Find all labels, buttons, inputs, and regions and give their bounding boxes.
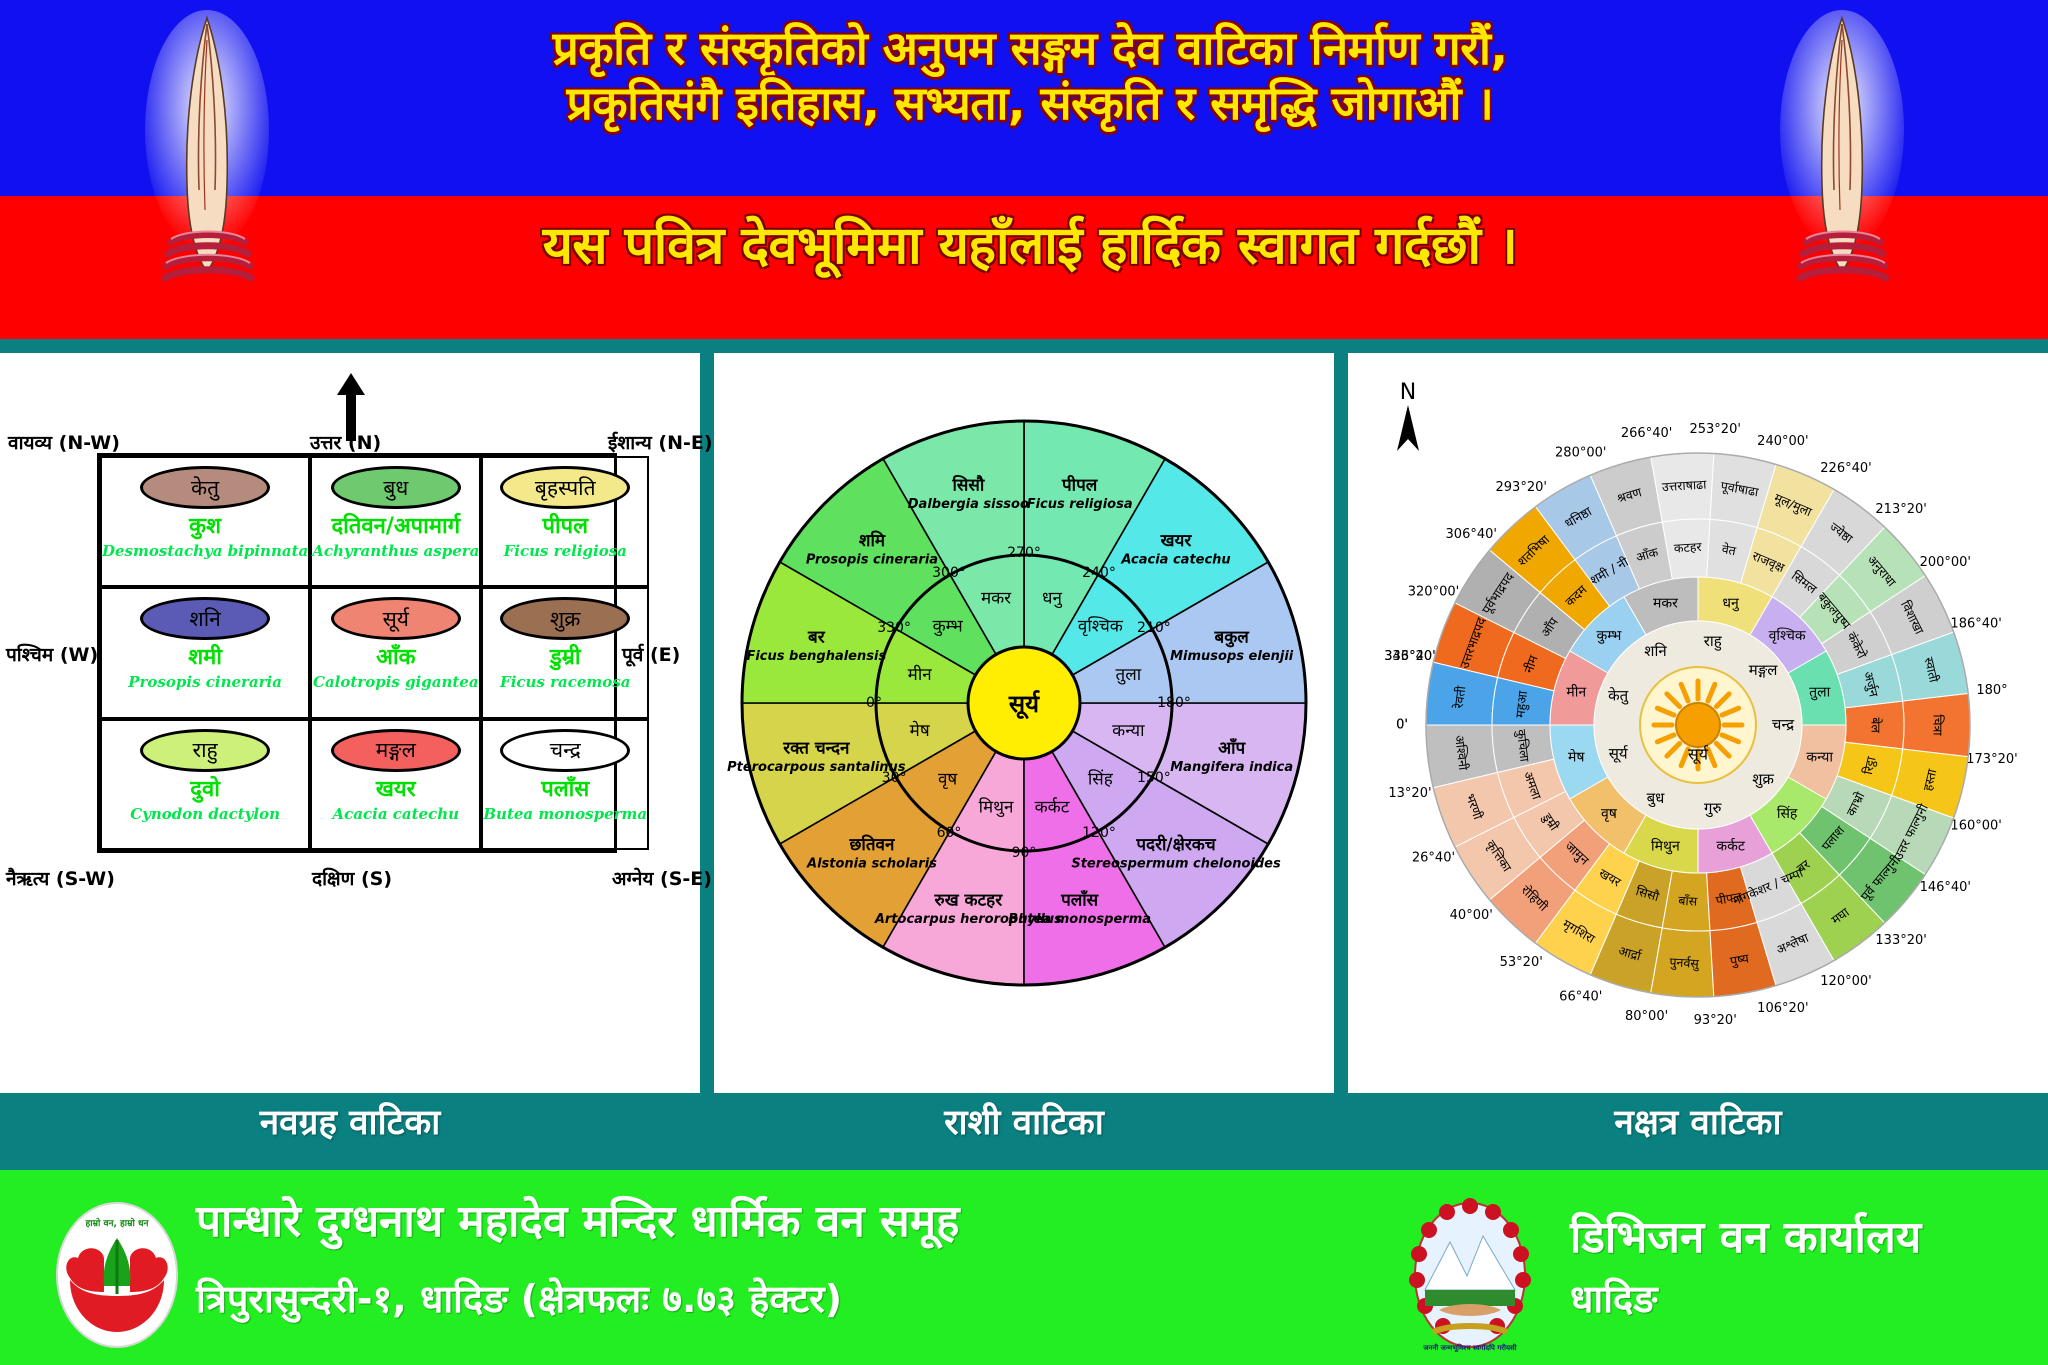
- nakshatra-degree-label-extra: 346°40': [1384, 649, 1435, 664]
- nakshatra-rashi-label: कर्कट: [1716, 838, 1746, 855]
- rashi-sign-label: मीन: [908, 664, 933, 685]
- nakshatra-graha-label: मङ्गल: [1749, 661, 1778, 679]
- direction-label-n: उत्तर (N): [310, 429, 381, 455]
- svg-text:कटहर: कटहर: [1673, 539, 1702, 556]
- rashi-sign-label: कन्या: [1112, 721, 1145, 741]
- svg-text:मेष: मेष: [910, 720, 931, 741]
- nakshatra-rashi-label: कुम्भ: [1597, 628, 1623, 644]
- rashi-degree-tick: 120°: [1082, 825, 1116, 841]
- navagraha-cell[interactable]: केतु कुश Desmostachya bipinnata: [100, 456, 310, 587]
- rashi-sign-label: धनु: [1042, 589, 1063, 609]
- nakshatra-graha-label: सूर्य: [1609, 745, 1629, 764]
- header-teal-divider: [0, 339, 2048, 353]
- nakshatra-center-label: सूर्य: [1688, 745, 1709, 765]
- svg-text:पुनर्वसु: पुनर्वसु: [1669, 954, 1700, 972]
- navagraha-cell[interactable]: सूर्य आँक Calotropis gigantea: [310, 587, 481, 718]
- direction-label-ne: ईशान्य (N-E): [608, 429, 713, 455]
- nakshatra-degree-label: 66°40': [1559, 989, 1602, 1004]
- rashi-degree-tick: 90°: [1012, 845, 1037, 861]
- scientific-name: Ficus racemosa: [500, 673, 630, 691]
- community-forest-logo-icon: हाम्रो वन, हाम्रो धन: [42, 1200, 192, 1350]
- navagraha-cell[interactable]: शुक्र डुम्री Ficus racemosa: [481, 587, 649, 718]
- nakshatra-rashi-label: वृश्चिक: [1769, 627, 1806, 644]
- scientific-name: Ficus religiosa: [504, 542, 627, 560]
- header-slogan-line2: प्रकृतिसंगै इतिहास, सभ्यता, संस्कृति र स…: [250, 75, 1810, 131]
- nakshatra-degree-label: 226°40': [1820, 461, 1871, 476]
- nakshatra-degree-label: 26°40': [1412, 850, 1455, 865]
- svg-text:हाम्रो वन, हाम्रो धन: हाम्रो वन, हाम्रो धन: [85, 1217, 150, 1229]
- svg-text:N: N: [1400, 380, 1416, 405]
- footer-org-name: पान्धारे दुग्धनाथ महादेव मन्दिर धार्मिक …: [196, 1196, 1256, 1248]
- scientific-name: Prosopis cineraria: [128, 673, 282, 691]
- svg-text:Acacia catechu: Acacia catechu: [1120, 552, 1230, 567]
- svg-text:Mangifera indica: Mangifera indica: [1170, 760, 1293, 775]
- caption-nakshatra: नक्षत्र वाटिका: [1348, 1098, 2048, 1145]
- nakshatra-name-label: उत्तराषाढा: [1661, 477, 1707, 495]
- planet-badge: बृहस्पति: [500, 466, 630, 509]
- svg-text:Dalbergia sissoo: Dalbergia sissoo: [908, 497, 1029, 512]
- planet-badge: शुक्र: [500, 597, 630, 640]
- svg-text:रक्त चन्दन: रक्त चन्दन: [782, 739, 850, 759]
- svg-text:मीन: मीन: [908, 664, 933, 685]
- rashi-wheel-chart[interactable]: रक्त चन्दनPterocarpous santalinusमेषछतिव…: [714, 353, 1334, 1093]
- svg-text:कुम्भ: कुम्भ: [933, 617, 964, 637]
- nakshatra-rashi-label: मिथुन: [1651, 838, 1680, 855]
- svg-text:आँप: आँप: [1218, 738, 1246, 759]
- rashi-degree-tick: 180°: [1157, 695, 1191, 711]
- north-arrow-icon: N: [1397, 380, 1419, 451]
- plant-name: शमी: [188, 647, 222, 669]
- svg-text:सिसौ: सिसौ: [951, 474, 984, 495]
- scientific-name: Desmostachya bipinnata: [102, 542, 308, 560]
- direction-label-s: दक्षिण (S): [312, 865, 392, 891]
- nakshatra-degree-label: 266°40': [1621, 426, 1672, 441]
- svg-text:चित्रा: चित्रा: [1931, 714, 1946, 736]
- svg-text:Butea monosperma: Butea monosperma: [1008, 912, 1151, 927]
- rashi-sign-label: वृष: [938, 769, 958, 789]
- nakshatra-graha-label: चन्द्र: [1772, 716, 1795, 734]
- rashi-sign-label: मिथुन: [979, 796, 1014, 817]
- svg-text:बेल: बेल: [1869, 717, 1884, 733]
- nakshatra-rashi-label: कन्या: [1806, 750, 1833, 766]
- svg-text:जननी जन्मभूमिश्च स्वर्गादपि गर: जननी जन्मभूमिश्च स्वर्गादपि गरीयसी: [1422, 1343, 1517, 1353]
- rashi-sign-label: मेष: [910, 720, 931, 741]
- scientific-name: Cynodon dactylon: [130, 805, 280, 823]
- scientific-name: Butea monosperma: [483, 805, 647, 823]
- header-slogan-line1: प्रकृति र संस्कृतिको अनुपम सङ्गम देव वाट…: [250, 20, 1810, 76]
- navagraha-grid: केतु कुश Desmostachya bipinnata बुध दतिव…: [97, 453, 617, 853]
- navagraha-cell[interactable]: चन्द्र पलाँस Butea monosperma: [481, 719, 649, 850]
- rashi-sign-label: वृश्चिक: [1078, 616, 1124, 637]
- svg-text:बकुल: बकुल: [1214, 627, 1251, 647]
- nakshatra-tree-label: बेल: [1869, 717, 1884, 733]
- planet-badge: केतु: [140, 466, 270, 509]
- navagraha-cell[interactable]: शनि शमी Prosopis cineraria: [100, 587, 310, 718]
- panels-container: वायव्य (N-W) उत्तर (N) ईशान्य (N-E) पश्च…: [0, 353, 2048, 1093]
- nakshatra-degree-label: 173°20': [1966, 752, 2017, 767]
- nakshatra-degree-label: 180°: [1976, 683, 2007, 698]
- rashi-sign-label: कुम्भ: [933, 617, 964, 637]
- rashi-degree-tick: 60°: [937, 825, 962, 841]
- poster-root: प्रकृति र संस्कृतिको अनुपम सङ्गम देव वाट…: [0, 0, 2048, 1365]
- svg-text:Pterocarpous santalinus: Pterocarpous santalinus: [727, 760, 906, 775]
- nakshatra-degree-label: 80°00': [1625, 1009, 1668, 1024]
- svg-text:बर: बर: [807, 627, 826, 647]
- rashi-sign-label: मकर: [981, 589, 1012, 609]
- svg-text:सिंह: सिंह: [1088, 768, 1114, 789]
- plant-name: दुवो: [190, 779, 220, 801]
- nakshatra-degree-label: 93°20': [1694, 1013, 1737, 1028]
- nakshatra-degree-label: 253°20': [1689, 422, 1740, 437]
- nakshatra-graha-label: राहु: [1704, 632, 1723, 651]
- scientific-name: Acacia catechu: [333, 805, 460, 823]
- nakshatra-tree-label: बाँस: [1678, 893, 1698, 909]
- rashi-sign-label: सिंह: [1088, 768, 1114, 789]
- svg-text:वृष: वृष: [938, 769, 958, 789]
- svg-text:रुख कटहर: रुख कटहर: [934, 891, 1004, 911]
- svg-text:पलाँस: पलाँस: [1060, 890, 1100, 911]
- nakshatra-degree-label: 200°00': [1920, 555, 1971, 570]
- navagraha-cell[interactable]: मङ्गल खयर Acacia catechu: [310, 719, 481, 850]
- panel-rashi: रक्त चन्दनPterocarpous santalinusमेषछतिव…: [714, 353, 1334, 1093]
- rashi-degree-tick: 240°: [1082, 565, 1116, 581]
- svg-text:Stereospermum chelonoides: Stereospermum chelonoides: [1071, 857, 1281, 872]
- direction-label-w: पश्चिम (W): [6, 641, 98, 667]
- nakshatra-rashi-label: मेष: [1568, 749, 1585, 766]
- svg-text:पीपल: पीपल: [1061, 474, 1099, 495]
- plant-name: डुम्री: [550, 647, 581, 669]
- nakshatra-degree-label: 293°20': [1496, 480, 1547, 495]
- direction-label-se: अग्नेय (S-E): [612, 865, 712, 891]
- rashi-center-label: सूर्य: [1008, 690, 1040, 720]
- svg-text:तुला: तुला: [1116, 665, 1142, 685]
- nakshatra-graha-label: बुध: [1647, 789, 1666, 808]
- footer-division-addr: धादिङ: [1570, 1272, 2000, 1324]
- plant-name: पलाँस: [541, 779, 589, 801]
- nakshatra-graha-label: शनि: [1644, 642, 1667, 660]
- rashi-sign-label: कर्कट: [1035, 796, 1070, 817]
- nakshatra-degree-label: 120°00': [1820, 974, 1871, 989]
- svg-text:Ficus religiosa: Ficus religiosa: [1027, 497, 1133, 512]
- panel-nakshatra: मेषवृषमिथुनकर्कटसिंहकन्यातुलावृश्चिकधनुम…: [1348, 353, 2048, 1093]
- svg-text:Prosopis cineraria: Prosopis cineraria: [806, 552, 938, 567]
- footer-division-name: डिभिजन वन कार्यालय: [1570, 1205, 2000, 1265]
- navagraha-cell[interactable]: बृहस्पति पीपल Ficus religiosa: [481, 456, 649, 587]
- nakshatra-rashi-label: वृष: [1601, 806, 1618, 822]
- svg-text:कर्कट: कर्कट: [1035, 796, 1070, 817]
- planet-badge: सूर्य: [331, 597, 461, 640]
- nakshatra-graha-label: केतु: [1608, 686, 1629, 705]
- planet-badge: चन्द्र: [500, 729, 630, 772]
- rashi-degree-tick: 0°: [866, 695, 882, 711]
- nepal-government-emblem-icon: जननी जन्मभूमिश्च स्वर्गादपि गरीयसी: [1395, 1190, 1545, 1360]
- rashi-degree-tick: 300°: [932, 565, 966, 581]
- nakshatra-name-label: पुनर्वसु: [1669, 954, 1700, 972]
- nakshatra-degree-label: 240°00': [1757, 434, 1808, 449]
- svg-text:धनु: धनु: [1042, 589, 1063, 609]
- svg-text:Mimusops elenjii: Mimusops elenjii: [1170, 649, 1294, 664]
- nakshatra-degree-label: 160°00': [1950, 819, 2001, 834]
- nakshatra-degree-label: 320°00': [1408, 585, 1459, 600]
- planet-badge: मङ्गल: [331, 729, 461, 772]
- nakshatra-degree-label-extra: 0': [1396, 717, 1408, 732]
- nakshatra-graha-label: शुक्र: [1752, 770, 1774, 789]
- planet-badge: बुध: [331, 466, 461, 509]
- svg-text:पदरी/क्षेरकच: पदरी/क्षेरकच: [1135, 834, 1216, 855]
- nakshatra-degree-label: 106°20': [1757, 1001, 1808, 1016]
- planet-badge: शनि: [140, 597, 270, 640]
- nakshatra-rashi-label: सिंह: [1777, 805, 1798, 822]
- svg-text:छतिवन: छतिवन: [849, 834, 895, 855]
- svg-text:खयर: खयर: [1160, 531, 1193, 551]
- rashi-degree-tick: 270°: [1007, 545, 1041, 561]
- navagraha-cell[interactable]: राहु दुवो Cynodon dactylon: [100, 719, 310, 850]
- footer-org-address: त्रिपुरासुन्दरी-१, धादिङ (क्षेत्रफलः ७.७…: [196, 1272, 1256, 1324]
- svg-text:मकर: मकर: [981, 589, 1012, 609]
- header-welcome-line: यस पवित्र देवभूमिमा यहाँलाई हार्दिक स्वा…: [250, 215, 1810, 277]
- svg-text:मिथुन: मिथुन: [979, 796, 1014, 817]
- rashi-sign-label: तुला: [1116, 665, 1142, 685]
- nakshatra-degree-label: 40°00': [1450, 908, 1493, 923]
- svg-text:कन्या: कन्या: [1112, 721, 1145, 741]
- planet-badge: राहु: [140, 729, 270, 772]
- svg-text:शमि: शमि: [859, 530, 886, 551]
- direction-label-sw: नैऋत्य (S-W): [6, 865, 115, 891]
- nakshatra-degree-label: 146°40': [1920, 880, 1971, 895]
- nakshatra-wheel-chart[interactable]: मेषवृषमिथुनकर्कटसिंहकन्यातुलावृश्चिकधनुम…: [1348, 353, 2048, 1093]
- plant-name: कुश: [189, 516, 221, 538]
- nakshatra-rashi-label: मकर: [1653, 595, 1678, 611]
- plant-name: खयर: [376, 779, 416, 801]
- nakshatra-graha-label: गुरु: [1704, 799, 1722, 818]
- scientific-name: Achyranthus aspera: [312, 542, 479, 560]
- svg-text:बाँस: बाँस: [1678, 893, 1698, 909]
- svg-text:Alstonia scholaris: Alstonia scholaris: [806, 857, 937, 872]
- navagraha-cell[interactable]: बुध दतिवन/अपामार्ग Achyranthus aspera: [310, 456, 481, 587]
- nakshatra-degree-label: 53°20': [1500, 955, 1543, 970]
- svg-text:उत्तराषाढा: उत्तराषाढा: [1661, 477, 1707, 495]
- plant-name: पीपल: [542, 516, 588, 538]
- panel-navagraha: वायव्य (N-W) उत्तर (N) ईशान्य (N-E) पश्च…: [0, 353, 700, 1093]
- nakshatra-degree-label: 213°20': [1875, 502, 1926, 517]
- scientific-name: Calotropis gigantea: [313, 673, 479, 691]
- nakshatra-degree-label: 280°00': [1555, 446, 1606, 461]
- plant-name: आँक: [376, 647, 415, 669]
- nakshatra-name-label: चित्रा: [1931, 714, 1946, 736]
- nakshatra-degree-label: 186°40': [1950, 616, 2001, 631]
- svg-text:रेवती: रेवती: [1451, 684, 1469, 710]
- caption-rashi: राशी वाटिका: [714, 1098, 1334, 1145]
- nakshatra-name-label: रेवती: [1451, 684, 1469, 710]
- nakshatra-rashi-label: तुला: [1809, 684, 1830, 700]
- nakshatra-degree-label: 133°20': [1875, 933, 1926, 948]
- nakshatra-tree-label: कटहर: [1673, 539, 1702, 556]
- svg-text:वृश्चिक: वृश्चिक: [1078, 616, 1124, 637]
- plant-name: दतिवन/अपामार्ग: [331, 516, 460, 538]
- nakshatra-rashi-label: धनु: [1722, 595, 1739, 611]
- svg-text:Ficus benghalensis: Ficus benghalensis: [746, 649, 886, 664]
- caption-navagraha: नवग्रह वाटिका: [0, 1098, 700, 1145]
- nakshatra-degree-label: 306°40': [1446, 527, 1497, 542]
- nakshatra-rashi-label: मीन: [1566, 683, 1586, 700]
- direction-label-nw: वायव्य (N-W): [8, 429, 120, 455]
- nakshatra-degree-label: 13°20': [1388, 786, 1431, 801]
